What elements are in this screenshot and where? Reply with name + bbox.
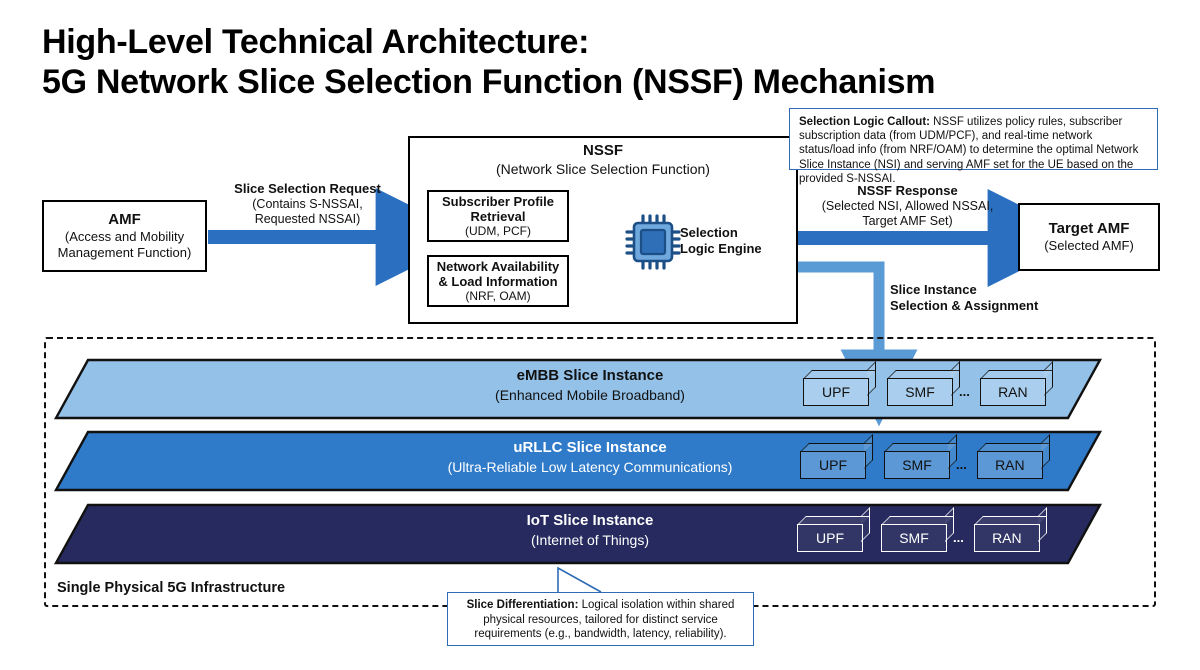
nf-label-ran: RAN bbox=[977, 451, 1043, 479]
nssf-title: NSSF bbox=[408, 142, 798, 160]
nssf-response-line3: Target AMF Set) bbox=[800, 214, 1015, 229]
diagram-canvas: High-Level Technical Architecture: 5G Ne… bbox=[0, 0, 1200, 670]
cpu-chip-icon bbox=[625, 214, 681, 270]
nf-label-ran: RAN bbox=[980, 378, 1046, 406]
amf-subtitle-line1: (Access and Mobility bbox=[65, 229, 184, 245]
slice-selection-request-label: Slice Selection Request (Contains S-NSSA… bbox=[210, 181, 405, 227]
subscriber-line3: (UDM, PCF) bbox=[465, 224, 531, 238]
infrastructure-label: Single Physical 5G Infrastructure bbox=[57, 580, 285, 596]
subscriber-line1: Subscriber Profile bbox=[442, 194, 554, 209]
nf-label-smf: SMF bbox=[884, 451, 950, 479]
engine-label-line1: Selection bbox=[680, 225, 790, 241]
network-availability-load-box[interactable]: Network Availability & Load Information … bbox=[427, 255, 569, 307]
target-amf-title: Target AMF bbox=[1049, 220, 1130, 238]
nf-ellipsis-urllc: ... bbox=[956, 457, 967, 472]
slice-assignment-line1: Slice Instance bbox=[890, 282, 1060, 298]
title-line-1: High-Level Technical Architecture: bbox=[42, 23, 589, 61]
slice-differentiation-callout: Slice Differentiation: Logical isolation… bbox=[447, 592, 754, 646]
netavail-line3: (NRF, OAM) bbox=[465, 289, 530, 303]
slice-urllc-subtitle: (Ultra-Reliable Low Latency Communicatio… bbox=[350, 458, 830, 477]
slice-iot-subtitle: (Internet of Things) bbox=[380, 531, 800, 550]
slice-label-iot: IoT Slice Instance (Internet of Things) bbox=[380, 511, 800, 557]
slice-iot-title: IoT Slice Instance bbox=[380, 511, 800, 531]
nf-row-embb: UPF SMF ... RAN bbox=[803, 370, 1048, 400]
amf-title: AMF bbox=[108, 211, 141, 229]
nf-label-smf: SMF bbox=[881, 524, 947, 552]
slice-embb-subtitle: (Enhanced Mobile Broadband) bbox=[380, 386, 800, 405]
nf-label-upf: UPF bbox=[797, 524, 863, 552]
nssf-response-label: NSSF Response (Selected NSI, Allowed NSS… bbox=[800, 183, 1015, 229]
page-title: High-Level Technical Architecture: 5G Ne… bbox=[42, 22, 1122, 102]
nf-ellipsis-embb: ... bbox=[959, 384, 970, 399]
engine-label-line2: Logic Engine bbox=[680, 241, 790, 257]
slice-urllc-title: uRLLC Slice Instance bbox=[350, 438, 830, 458]
nf-box-smf-iot[interactable]: SMF bbox=[881, 516, 949, 546]
slice-assignment-label: Slice Instance Selection & Assignment bbox=[890, 282, 1060, 314]
subscriber-line2: Retrieval bbox=[471, 209, 526, 224]
selection-logic-callout-label: Selection Logic Callout: bbox=[799, 116, 930, 128]
nf-row-urllc: UPF SMF ... RAN bbox=[800, 443, 1045, 473]
nf-label-upf: UPF bbox=[800, 451, 866, 479]
nf-box-ran-iot[interactable]: RAN bbox=[974, 516, 1042, 546]
title-line-2: 5G Network Slice Selection Function (NSS… bbox=[42, 62, 1122, 102]
slice-request-line2: (Contains S-NSSAI, bbox=[210, 197, 405, 212]
target-amf-subtitle: (Selected AMF) bbox=[1044, 238, 1134, 254]
amf-box[interactable]: AMF (Access and Mobility Management Func… bbox=[42, 200, 207, 272]
nf-box-smf-urllc[interactable]: SMF bbox=[884, 443, 952, 473]
nf-box-upf-iot[interactable]: UPF bbox=[797, 516, 865, 546]
nf-label-ran: RAN bbox=[974, 524, 1040, 552]
nf-box-ran-urllc[interactable]: RAN bbox=[977, 443, 1045, 473]
nf-box-ran-embb[interactable]: RAN bbox=[980, 370, 1048, 400]
slice-differentiation-label: Slice Differentiation: bbox=[467, 599, 579, 611]
selection-logic-callout: Selection Logic Callout: NSSF utilizes p… bbox=[789, 108, 1158, 170]
selection-logic-engine-label: Selection Logic Engine bbox=[680, 225, 790, 257]
netavail-line2: & Load Information bbox=[438, 274, 557, 289]
slice-request-title: Slice Selection Request bbox=[210, 181, 405, 197]
nf-box-upf-embb[interactable]: UPF bbox=[803, 370, 871, 400]
slice-embb-title: eMBB Slice Instance bbox=[380, 366, 800, 386]
slice-assignment-line2: Selection & Assignment bbox=[890, 298, 1060, 314]
slice-label-urllc: uRLLC Slice Instance (Ultra-Reliable Low… bbox=[350, 438, 830, 484]
nf-box-smf-embb[interactable]: SMF bbox=[887, 370, 955, 400]
nssf-subtitle: (Network Slice Selection Function) bbox=[408, 161, 798, 178]
nf-ellipsis-iot: ... bbox=[953, 530, 964, 545]
netavail-line1: Network Availability bbox=[437, 259, 560, 274]
nf-label-upf: UPF bbox=[803, 378, 869, 406]
nssf-response-title: NSSF Response bbox=[800, 183, 1015, 199]
slice-label-embb: eMBB Slice Instance (Enhanced Mobile Bro… bbox=[380, 366, 800, 412]
nf-box-upf-urllc[interactable]: UPF bbox=[800, 443, 868, 473]
nssf-response-line2: (Selected NSI, Allowed NSSAI, bbox=[800, 199, 1015, 214]
subscriber-profile-retrieval-box[interactable]: Subscriber Profile Retrieval (UDM, PCF) bbox=[427, 190, 569, 242]
slice-request-line3: Requested NSSAI) bbox=[210, 212, 405, 227]
nf-label-smf: SMF bbox=[887, 378, 953, 406]
target-amf-box[interactable]: Target AMF (Selected AMF) bbox=[1018, 203, 1160, 271]
amf-subtitle-line2: Management Function) bbox=[58, 245, 192, 261]
nf-row-iot: UPF SMF ... RAN bbox=[797, 516, 1042, 546]
